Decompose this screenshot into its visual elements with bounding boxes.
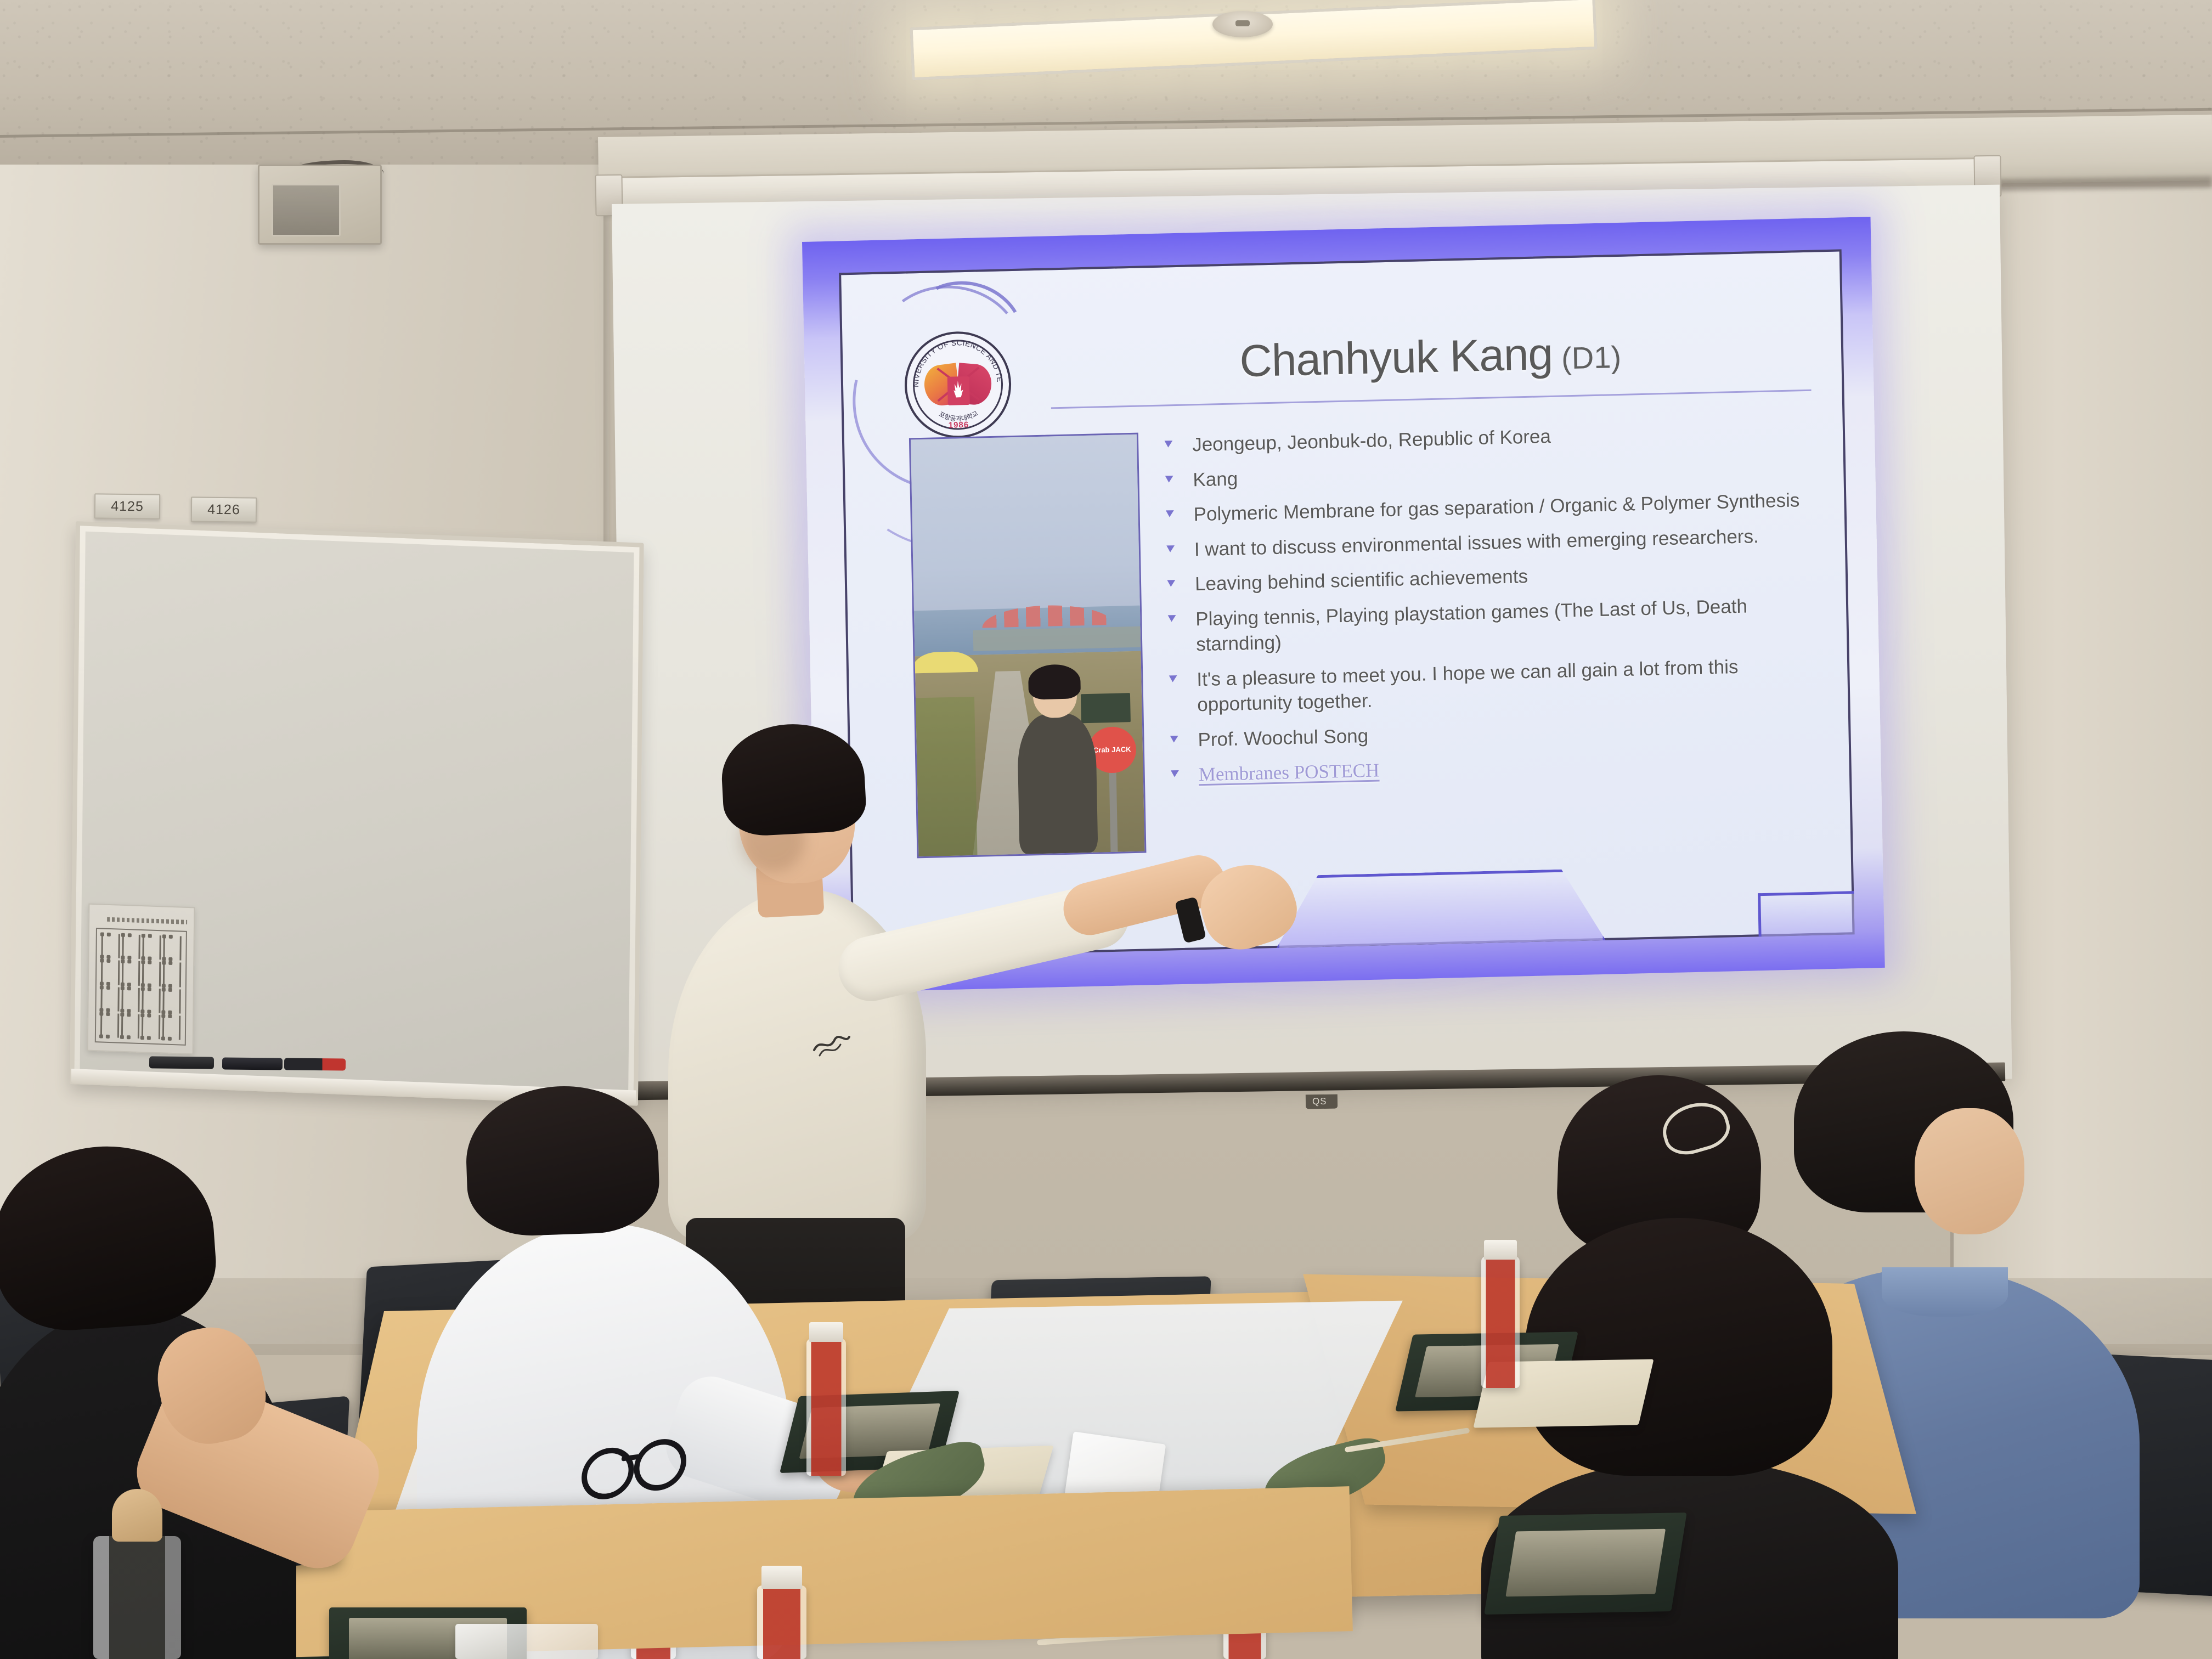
slide-title-row: Chanhyuk Kang (D1): [1051, 323, 1810, 392]
photo-person: [1014, 669, 1099, 854]
poster-desk-icon: [142, 935, 161, 960]
slide-bullet: Leaving behind scientific achievements: [1165, 557, 1812, 598]
whiteboard-marker-black[interactable]: [149, 1056, 214, 1069]
poster-desk-icon: [162, 1015, 180, 1040]
polo-collar: [1882, 1267, 2008, 1317]
poster-desk-icon: [142, 1014, 160, 1039]
door-plate-4125: 4125: [94, 493, 160, 519]
slide-bullet: Playing tennis, Playing playstation game…: [1166, 592, 1813, 659]
slide-bullet: Kang: [1163, 453, 1810, 493]
audience-hair: [0, 1139, 220, 1335]
photo-sky: [911, 435, 1140, 623]
screen-tab-label: QS: [1312, 1096, 1327, 1107]
poster-desk-icon: [121, 987, 140, 1012]
bullet-arrow-icon: [1169, 672, 1179, 682]
shirt-logo-icon: [812, 1031, 851, 1060]
poster-desk-icon: [101, 933, 120, 958]
slide-bullet: Prof. Woochul Song: [1168, 713, 1815, 754]
room-layout-poster: [87, 904, 195, 1055]
poster-desk-icon: [142, 961, 161, 986]
poster-desk-icon: [101, 960, 120, 985]
photo-pier: [973, 626, 1141, 651]
poster-desk-icon: [142, 988, 160, 1013]
water-bottle[interactable]: [93, 1536, 181, 1659]
tea-bottle[interactable]: [757, 1585, 806, 1659]
slide-bullet-text: It's a pleasure to meet you. I hope we c…: [1197, 656, 1739, 716]
slide-bullet: I want to discuss environmental issues w…: [1164, 522, 1811, 563]
poster-desk-icon: [163, 935, 182, 960]
poster-desk-icon: [121, 1014, 139, 1039]
projector-mount: [258, 165, 382, 245]
slide-bullet-text: Membranes POSTECH: [1198, 760, 1379, 786]
slide-bullet-text: I want to discuss environmental issues w…: [1194, 526, 1759, 560]
poster-seat-grid: [100, 933, 182, 1040]
photo-person-hair: [1028, 664, 1081, 700]
tea-bottle[interactable]: [806, 1339, 846, 1476]
poster-desk-icon: [162, 989, 181, 1013]
poster-desk-icon: [100, 1013, 119, 1037]
slide-bullet-text: Polymeric Membrane for gas separation / …: [1193, 489, 1799, 525]
slide-bullet-list: Jeongeup, Jeonbuk-do, Republic of KoreaK…: [1163, 418, 1815, 798]
bullet-arrow-icon: [1165, 472, 1175, 483]
seminar-room-scene: POHANG UNIVERSITY OF SCIENCE AND TECHNOL…: [0, 0, 2212, 1659]
slide-bullet-text: Kang: [1193, 468, 1238, 490]
snack-package[interactable]: [455, 1624, 598, 1659]
tea-bottle[interactable]: [1481, 1256, 1520, 1388]
bottle-wooden-lid: [112, 1489, 162, 1542]
poster-desk-icon: [122, 934, 140, 959]
page-title: Chanhyuk Kang: [1239, 329, 1553, 387]
poster-border: [95, 928, 187, 1046]
audience-hair: [464, 1083, 661, 1238]
slide-bullet: It's a pleasure to meet you. I hope we c…: [1167, 653, 1814, 719]
bottle-cap: [761, 1566, 802, 1589]
slide-bullet[interactable]: Membranes POSTECH: [1169, 748, 1815, 788]
whiteboard-marker-black[interactable]: [222, 1057, 283, 1070]
bento-box[interactable]: [1484, 1513, 1687, 1615]
audience-face: [1915, 1108, 2024, 1234]
bottle-cap: [1484, 1240, 1517, 1260]
presenter-hair: [719, 720, 867, 837]
slide-inner-frame: POHANG UNIVERSITY OF SCIENCE AND TECHNOL…: [839, 249, 1854, 958]
slide-bullet-text: Playing tennis, Playing playstation game…: [1195, 595, 1747, 655]
postech-logo-icon: POHANG UNIVERSITY OF SCIENCE AND TECHNOL…: [904, 330, 1012, 439]
bullet-arrow-icon: [1171, 767, 1181, 777]
poster-title-text: [107, 917, 187, 924]
slide-bullet: Polymeric Membrane for gas separation / …: [1164, 488, 1810, 528]
slide-bottom-decoration-right: [1758, 891, 1854, 936]
slide-bottom-decoration: [1275, 868, 1605, 948]
slide-bullet-text: Leaving behind scientific achievements: [1195, 566, 1528, 595]
photo-person-body: [1017, 713, 1098, 854]
door-plate-4126: 4126: [191, 496, 257, 522]
poster-desk-icon: [121, 961, 140, 985]
bullet-arrow-icon: [1168, 612, 1178, 622]
bullet-arrow-icon: [1170, 732, 1180, 743]
slide-bullet-text: Prof. Woochul Song: [1198, 725, 1368, 751]
photo-sign-text: Crab JACK: [1093, 746, 1131, 754]
title-divider: [1051, 390, 1812, 409]
page-title-suffix: (D1): [1561, 339, 1622, 376]
smoke-detector-icon: [1212, 11, 1273, 37]
bullet-arrow-icon: [1166, 507, 1176, 517]
bullet-arrow-icon: [1165, 437, 1175, 448]
whiteboard-marker-red[interactable]: [284, 1058, 346, 1070]
slide-bullet-text: Jeongeup, Jeonbuk-do, Republic of Korea: [1192, 426, 1551, 455]
bullet-arrow-icon: [1166, 542, 1176, 552]
poster-desk-icon: [100, 986, 119, 1011]
bullet-arrow-icon: [1167, 577, 1177, 587]
slide-bullet: Jeongeup, Jeonbuk-do, Republic of Korea: [1163, 418, 1809, 459]
seal-torch-icon: [947, 376, 970, 405]
poster-desk-icon: [162, 962, 181, 987]
bottle-cap: [809, 1322, 843, 1342]
